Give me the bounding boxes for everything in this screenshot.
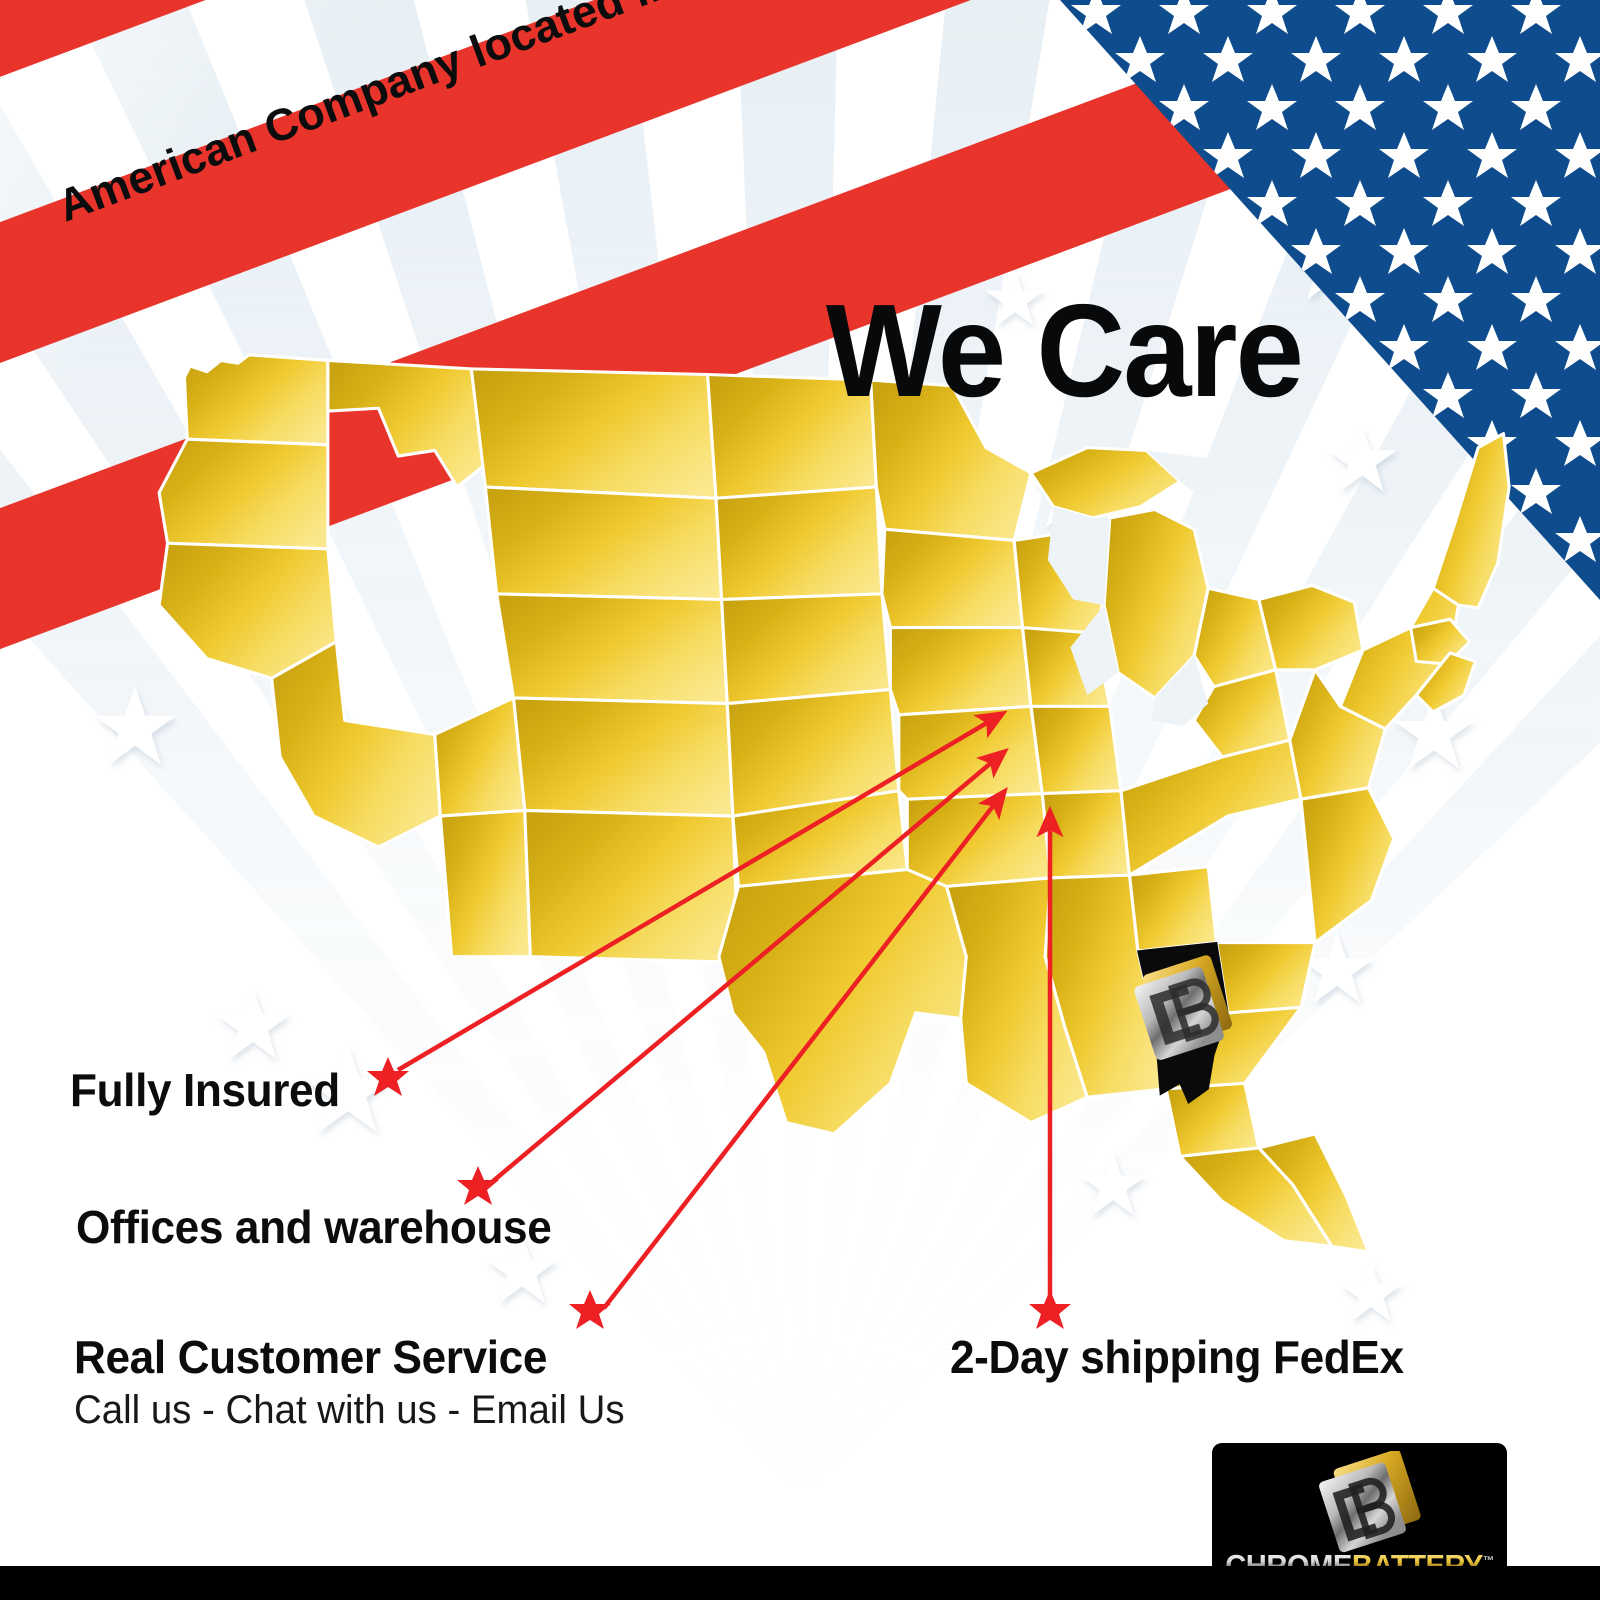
feature-title: 2-Day shipping FedEx (950, 1330, 1404, 1384)
feature-subtitle: Call us - Chat with us - Email Us (74, 1388, 625, 1433)
poster-canvas: American Company located in Indiana We C… (0, 0, 1600, 1600)
feature-title: Fully Insured (70, 1063, 340, 1117)
feature-title: Real Customer Service (74, 1330, 625, 1384)
map-landmass (159, 355, 1509, 1252)
feature-offices-warehouse: Offices and warehouse (76, 1200, 571, 1254)
feature-shipping: 2-Day shipping FedEx (950, 1330, 1423, 1384)
page-title: We Care (826, 285, 1302, 417)
feature-title: Offices and warehouse (76, 1200, 551, 1254)
chrome-battery-logomark (1285, 1451, 1435, 1559)
decor-star-icon (1338, 1260, 1404, 1324)
feature-customer-service: Real Customer Service Call us - Chat wit… (74, 1330, 647, 1433)
feature-fully-insured: Fully Insured (70, 1063, 351, 1117)
bottom-bar (0, 1566, 1600, 1600)
usa-map (96, 352, 1516, 1252)
